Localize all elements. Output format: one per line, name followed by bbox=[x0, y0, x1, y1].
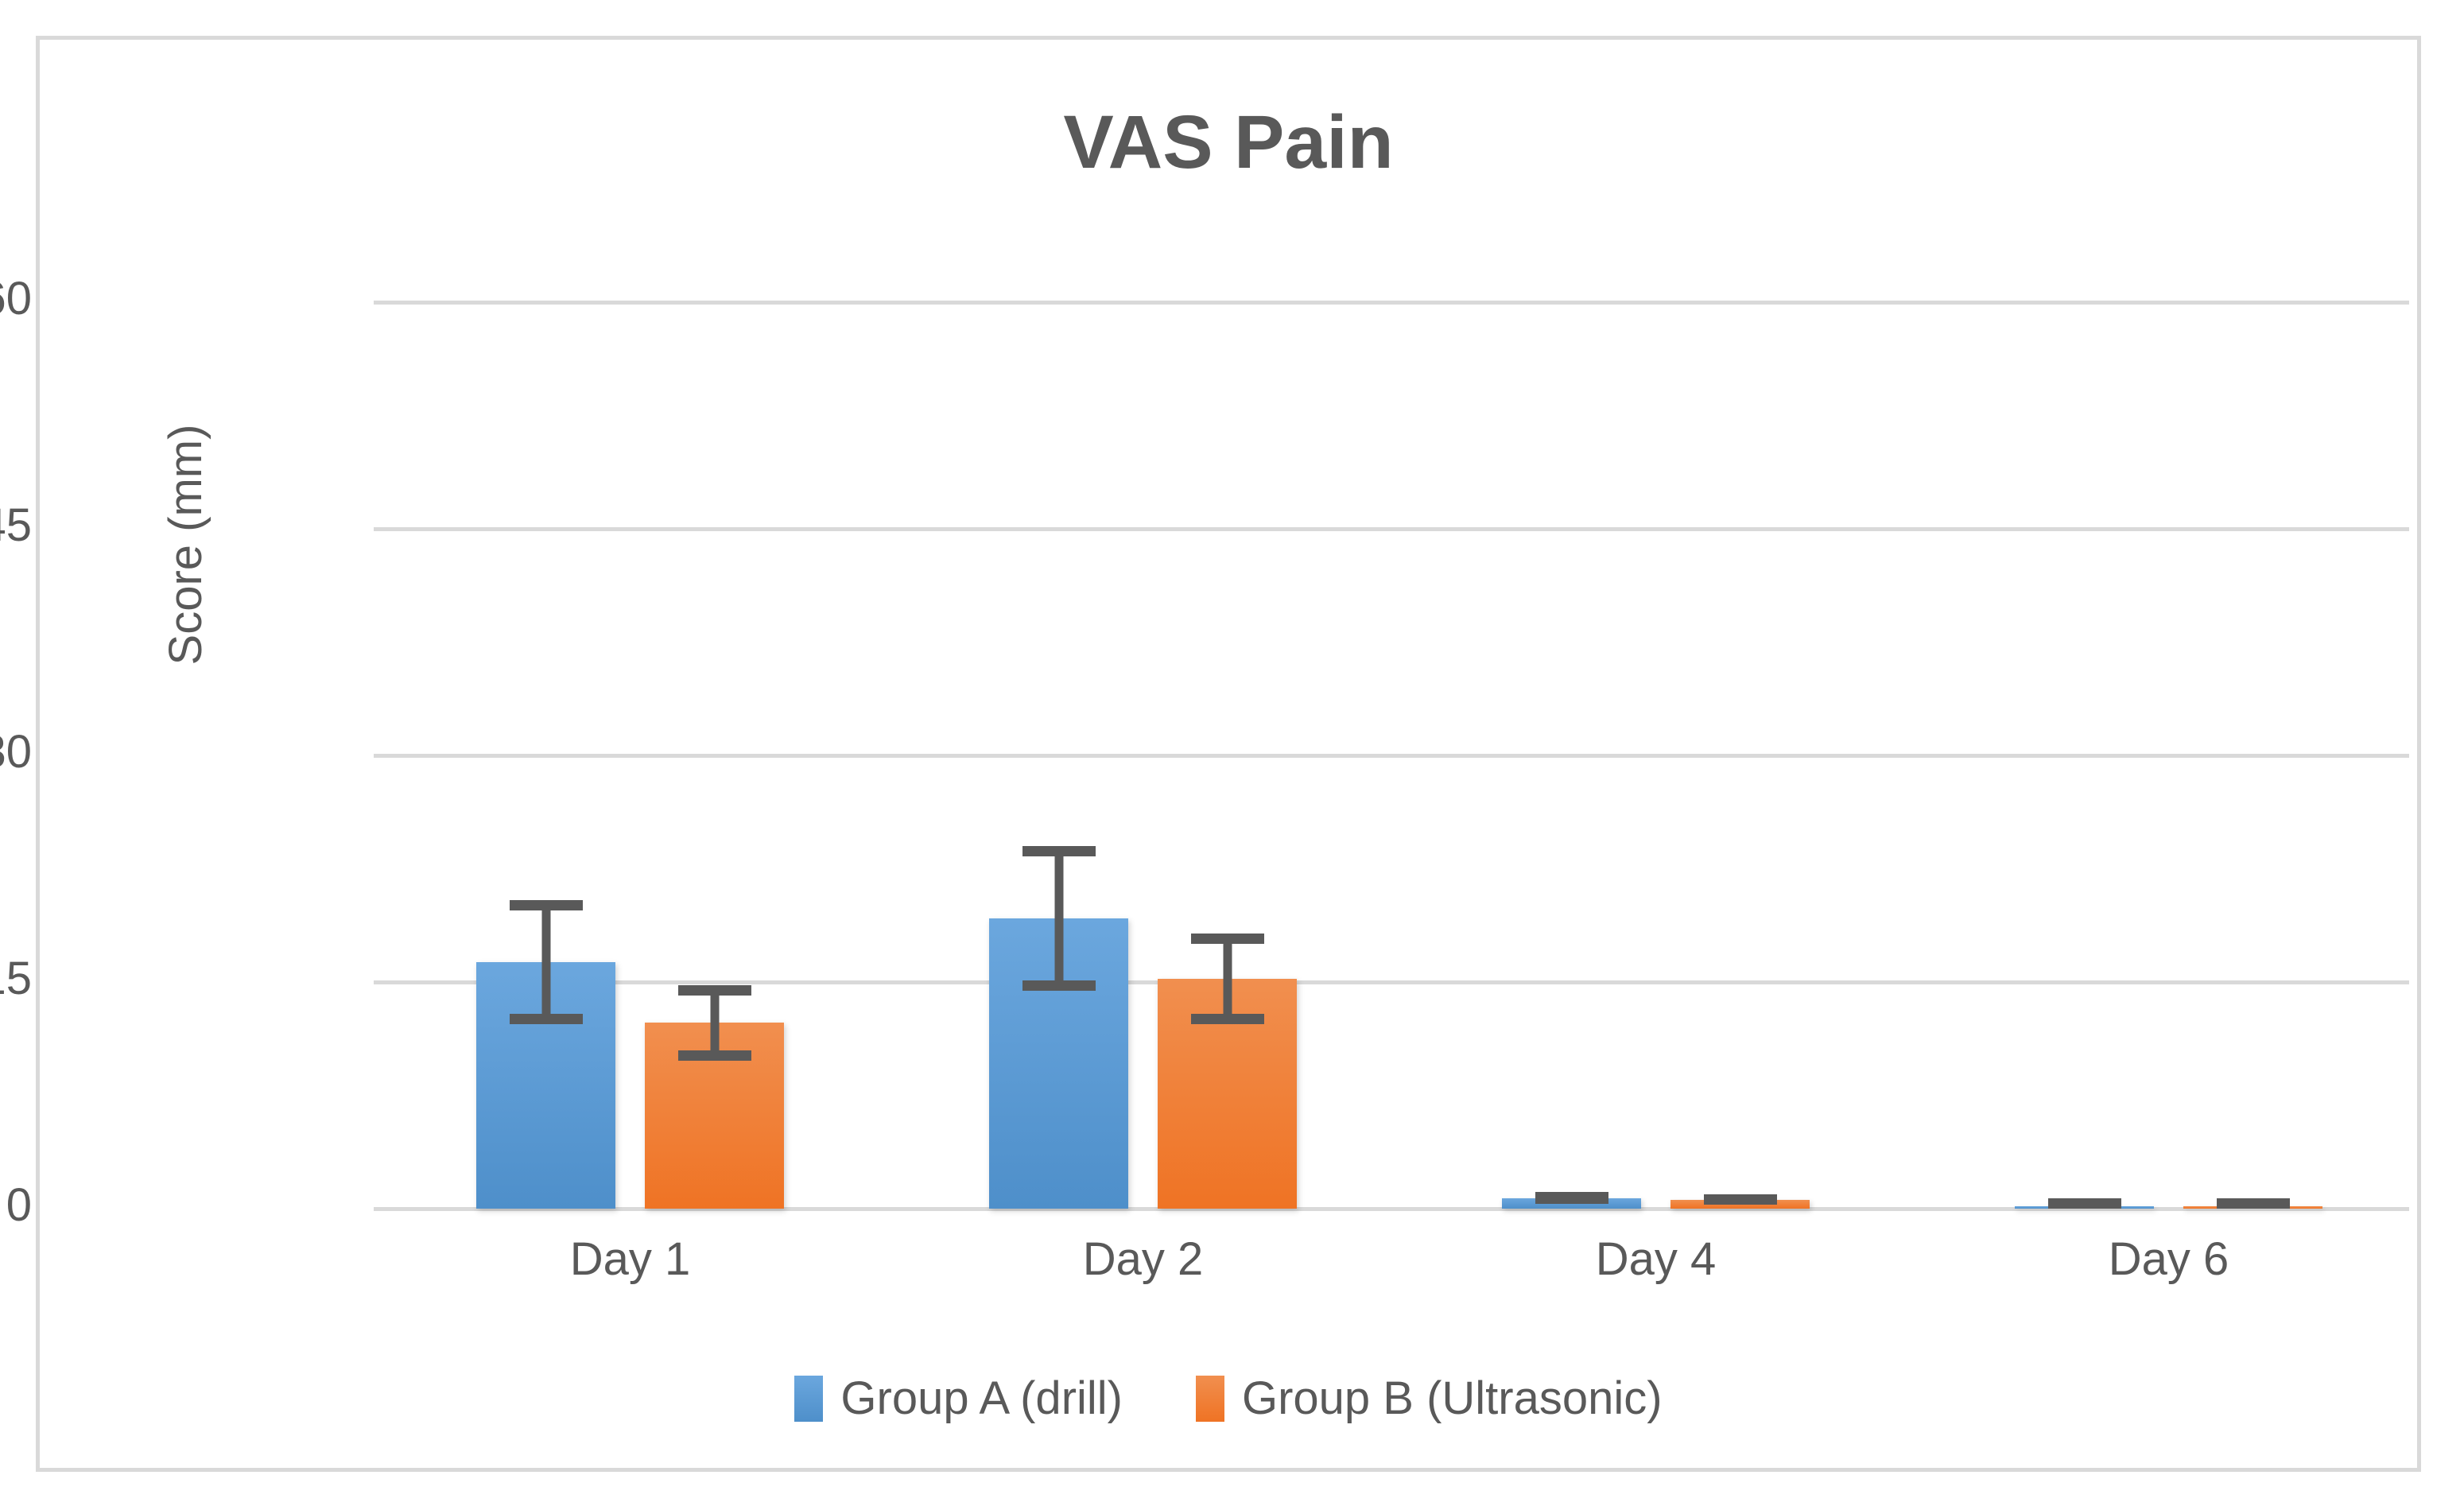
legend-swatch-icon bbox=[794, 1376, 823, 1422]
legend-label: Group B (Ultrasonic) bbox=[1242, 1372, 1663, 1425]
error-bar bbox=[1535, 1192, 1608, 1204]
bar-slot bbox=[2015, 302, 2154, 1209]
x-tick-label: Day 2 bbox=[887, 1232, 1399, 1286]
error-bar bbox=[2048, 1198, 2121, 1209]
error-bar-cap-bottom bbox=[1022, 980, 1096, 991]
error-bar bbox=[678, 985, 751, 1061]
chart-title: VAS Pain bbox=[40, 103, 2417, 183]
y-tick-label: 15 bbox=[0, 956, 32, 1002]
error-bar-cap-top bbox=[678, 985, 751, 996]
plot-area: 015304560 bbox=[374, 302, 2425, 1209]
bar-slot bbox=[645, 302, 784, 1209]
error-bar bbox=[510, 900, 583, 1024]
bar-slot bbox=[989, 302, 1128, 1209]
error-bar-cap-bottom bbox=[1191, 1014, 1264, 1024]
error-bar bbox=[1191, 934, 1264, 1024]
error-bar-cap-top bbox=[1022, 846, 1096, 856]
y-tick-label: 30 bbox=[0, 729, 32, 775]
legend-entry-group-b[interactable]: Group B (Ultrasonic) bbox=[1196, 1372, 1663, 1425]
error-bar bbox=[2217, 1198, 2290, 1209]
error-bar bbox=[1022, 846, 1096, 991]
bar-slot bbox=[2183, 302, 2322, 1209]
error-bar-cap-bottom bbox=[2217, 1198, 2290, 1209]
legend-swatch-icon bbox=[1196, 1376, 1224, 1422]
x-tick-label: Day 6 bbox=[1912, 1232, 2425, 1286]
bar-slot bbox=[476, 302, 615, 1209]
error-bar-stem bbox=[541, 900, 550, 1024]
y-tick-label: 45 bbox=[0, 503, 32, 549]
error-bar-cap-bottom bbox=[2048, 1198, 2121, 1209]
x-tick-label: Day 4 bbox=[1399, 1232, 1912, 1286]
error-bar-cap-bottom bbox=[1535, 1194, 1608, 1204]
error-bar-cap-bottom bbox=[1704, 1194, 1777, 1205]
error-bar-stem bbox=[710, 985, 719, 1061]
error-bar-cap-bottom bbox=[510, 1014, 583, 1024]
x-axis-labels: Day 1Day 2Day 4Day 6 bbox=[374, 1232, 2425, 1304]
error-bar-cap-bottom bbox=[678, 1050, 751, 1061]
error-bar-stem bbox=[1223, 934, 1232, 1024]
bar-slot bbox=[1158, 302, 1297, 1209]
error-bar bbox=[1704, 1194, 1777, 1205]
y-tick-label: 0 bbox=[0, 1182, 32, 1229]
legend-label: Group A (drill) bbox=[840, 1372, 1123, 1425]
bar-slot bbox=[1502, 302, 1641, 1209]
chart-frame: VAS Pain Score (mm) 015304560 Day 1Day 2… bbox=[36, 36, 2421, 1472]
y-tick-label: 60 bbox=[0, 276, 32, 322]
error-bar-cap-top bbox=[510, 900, 583, 910]
error-bar-cap-top bbox=[1191, 934, 1264, 944]
x-tick-label: Day 1 bbox=[374, 1232, 887, 1286]
y-axis-title: Score (mm) bbox=[159, 386, 231, 704]
chart-legend: Group A (drill)Group B (Ultrasonic) bbox=[40, 1372, 2417, 1425]
error-bar-stem bbox=[1054, 846, 1063, 991]
legend-entry-group-a[interactable]: Group A (drill) bbox=[794, 1372, 1123, 1425]
bar-slot bbox=[1670, 302, 1810, 1209]
